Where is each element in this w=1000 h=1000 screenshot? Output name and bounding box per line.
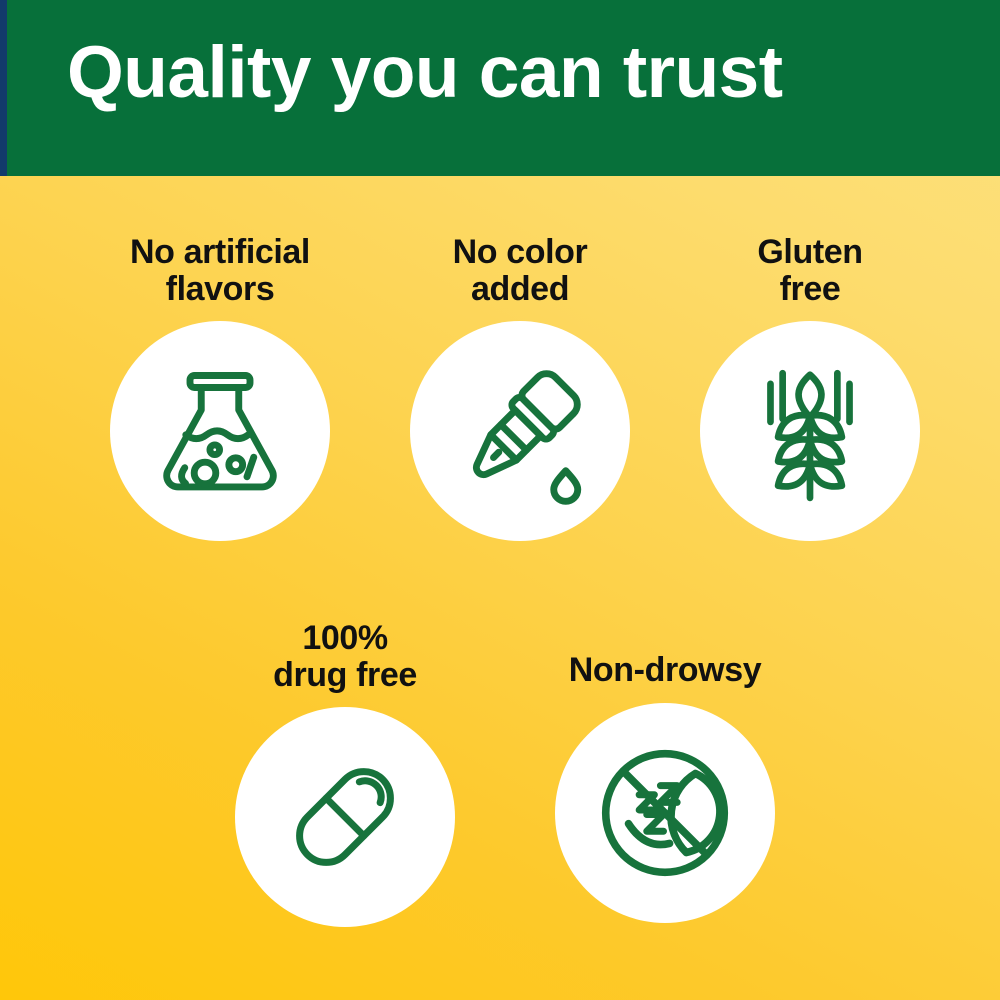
quality-claims-poster: Quality you can trust No artificial flav… <box>0 0 1000 1000</box>
feature-gluten-free: Gluten free <box>660 234 960 541</box>
feature-drug-free: 100% drug free <box>195 620 495 927</box>
feature-label: 100% drug free <box>195 620 495 693</box>
feature-label: No artificial flavors <box>70 234 370 307</box>
header-band: Quality you can trust <box>0 0 1000 176</box>
badge-circle <box>410 321 630 541</box>
feature-label: Gluten free <box>660 234 960 307</box>
feature-non-drowsy: Non-drowsy <box>515 652 815 923</box>
dropper-icon <box>445 356 595 506</box>
badge-circle <box>555 703 775 923</box>
page-title: Quality you can trust <box>67 36 783 109</box>
badge-circle <box>235 707 455 927</box>
feature-no-artificial-flavors: No artificial flavors <box>70 234 370 541</box>
feature-no-color-added: No color added <box>370 234 670 541</box>
badge-circle <box>700 321 920 541</box>
capsule-icon <box>275 747 415 887</box>
feature-label: Non-drowsy <box>515 652 815 689</box>
no-sleep-icon <box>589 737 741 889</box>
feature-label: No color added <box>370 234 670 307</box>
wheat-icon <box>744 355 876 507</box>
flask-icon <box>145 356 295 506</box>
badge-circle <box>110 321 330 541</box>
